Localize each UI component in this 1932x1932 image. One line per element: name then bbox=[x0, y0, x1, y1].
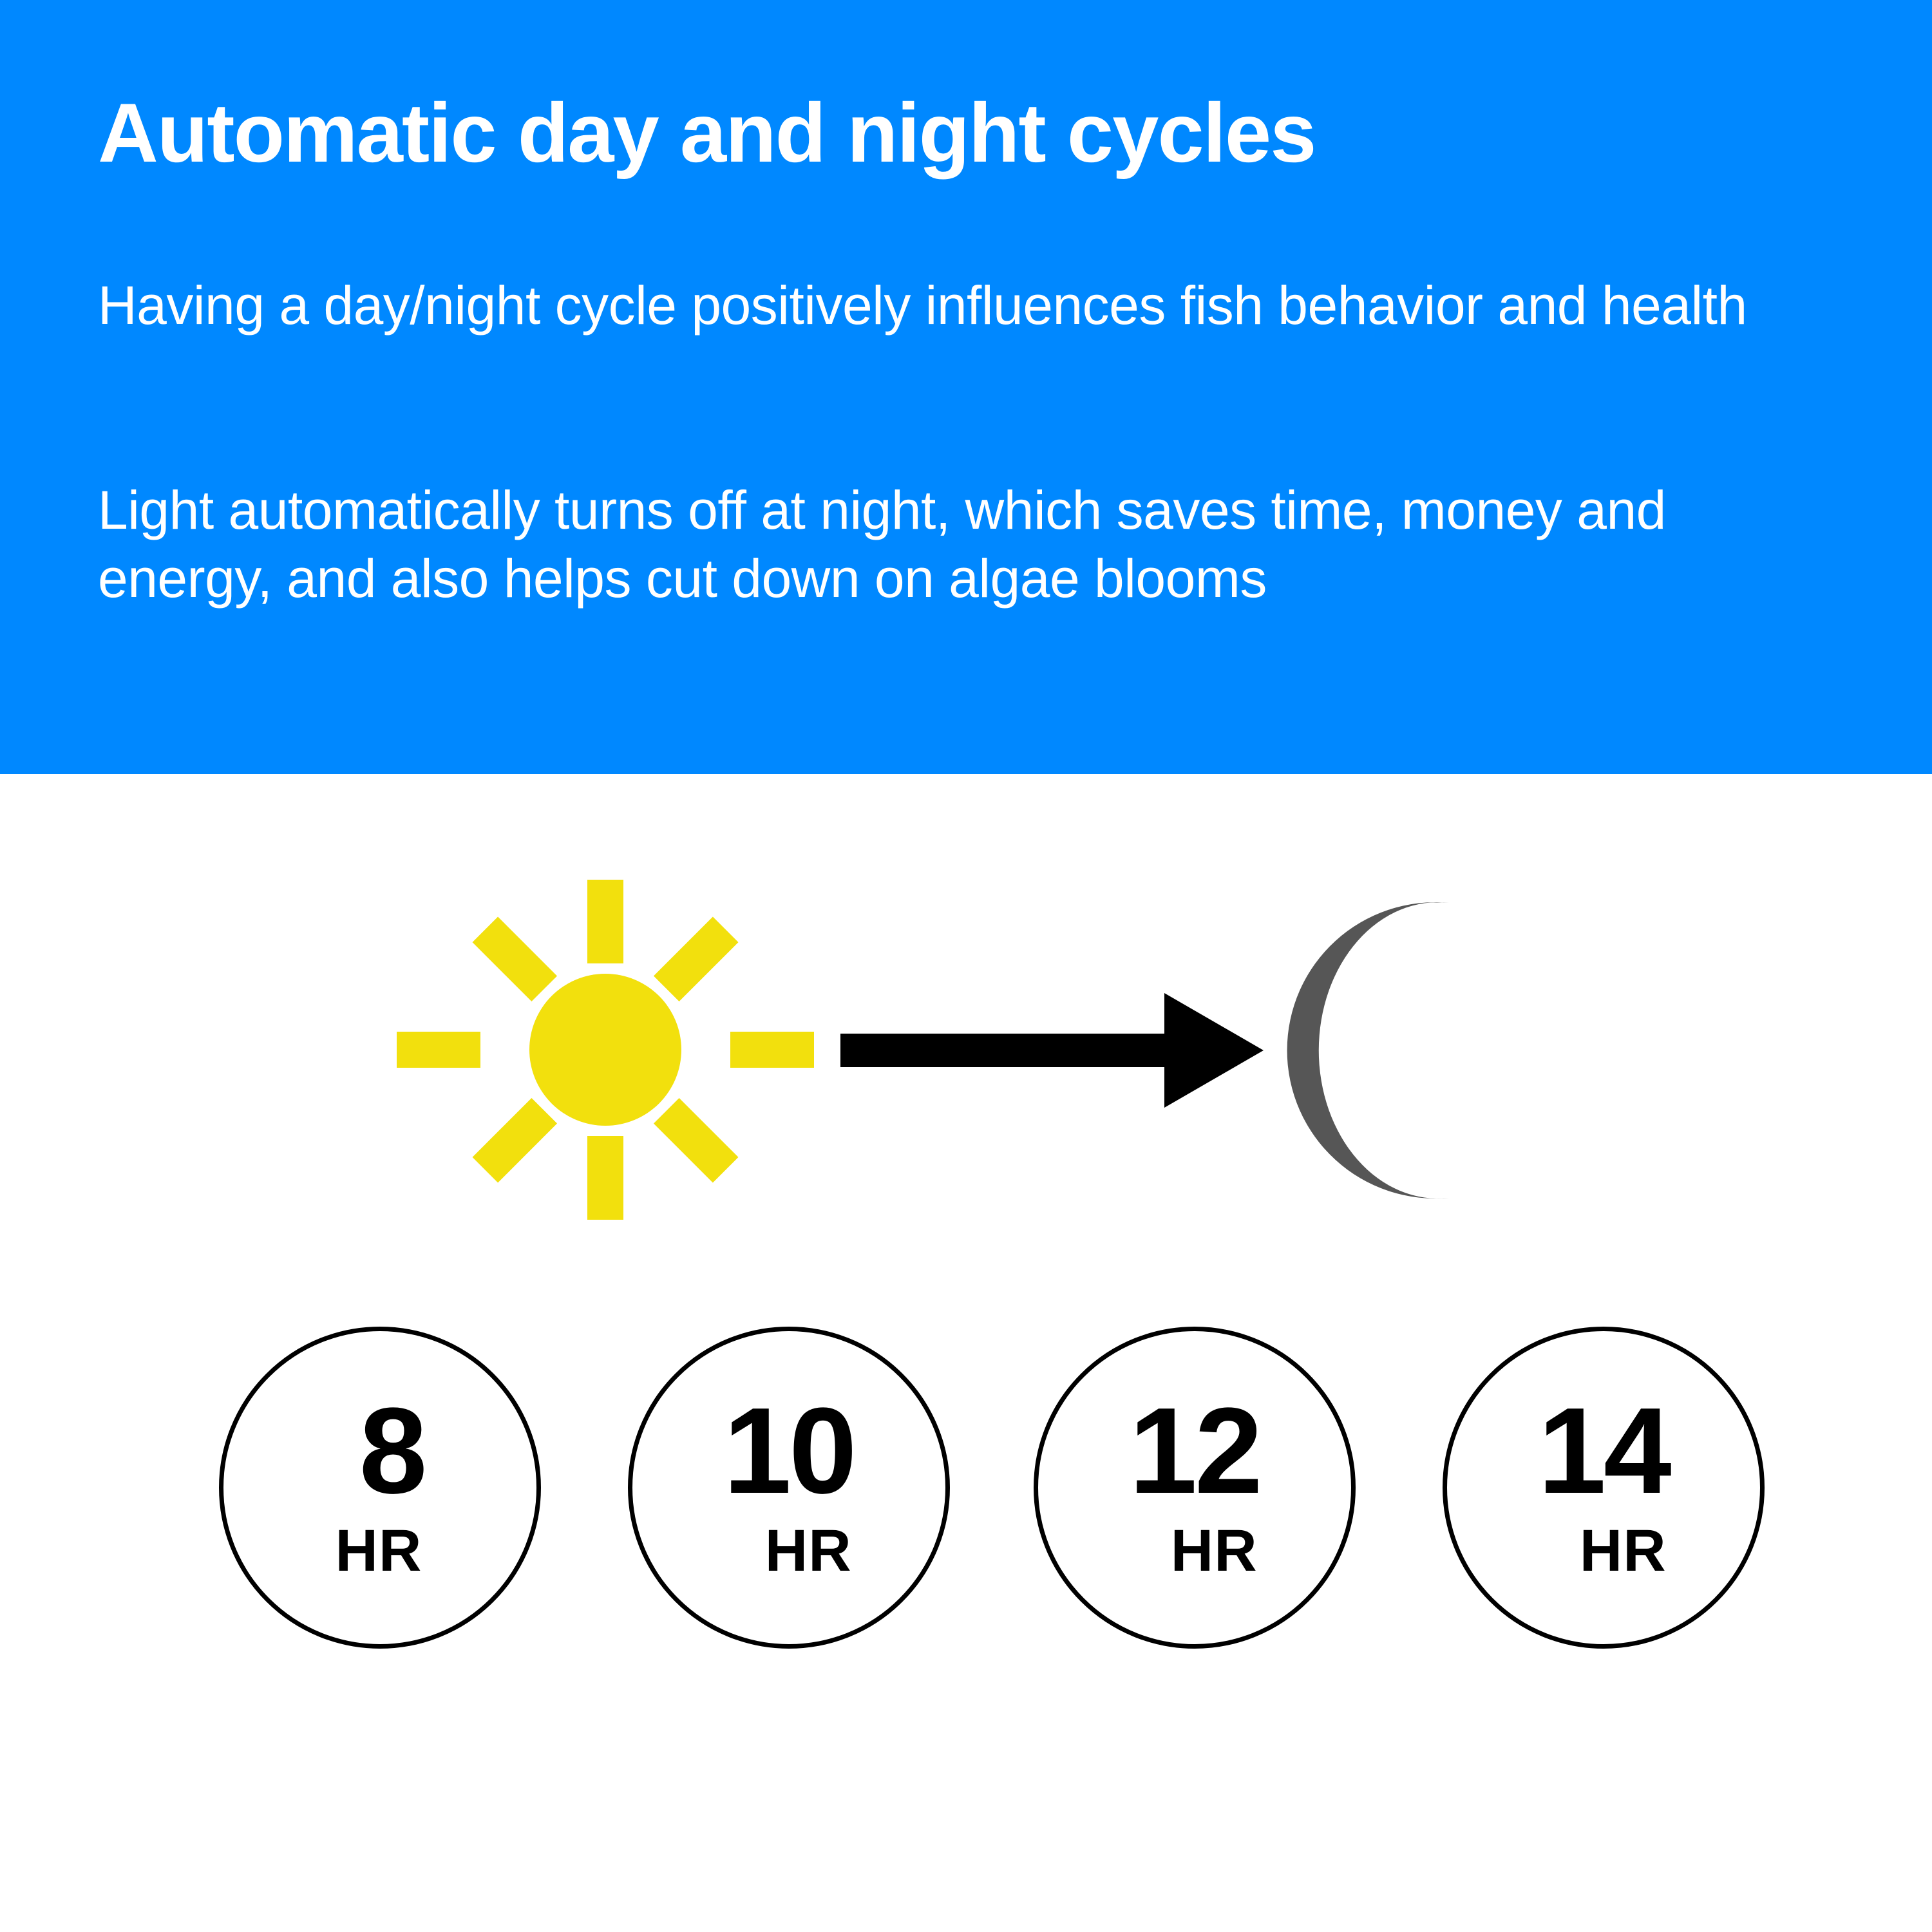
illustration-svg bbox=[0, 774, 1932, 1334]
duration-option-10hr[interactable]: 10 HR bbox=[628, 1327, 950, 1649]
header-paragraph-2: Light automatically turns off at night, … bbox=[98, 477, 1779, 613]
duration-option-14hr[interactable]: 14 HR bbox=[1443, 1327, 1765, 1649]
duration-option-12hr[interactable]: 12 HR bbox=[1034, 1327, 1356, 1649]
page-title: Automatic day and night cycles bbox=[98, 89, 1837, 178]
duration-option-stack: 10 HR bbox=[723, 1395, 854, 1581]
header-paragraph-1: Having a day/night cycle positively infl… bbox=[98, 272, 1779, 340]
duration-value: 8 bbox=[359, 1395, 425, 1508]
sun-icon bbox=[397, 880, 814, 1220]
duration-option-stack: 14 HR bbox=[1538, 1395, 1669, 1581]
arrow-right-icon bbox=[840, 993, 1264, 1108]
duration-unit: HR bbox=[765, 1521, 852, 1580]
duration-value: 12 bbox=[1129, 1395, 1260, 1508]
duration-unit: HR bbox=[336, 1521, 422, 1580]
duration-value: 10 bbox=[723, 1395, 854, 1508]
day-night-illustration bbox=[0, 774, 1932, 1334]
duration-option-stack: 12 HR bbox=[1129, 1395, 1260, 1581]
duration-unit: HR bbox=[1580, 1521, 1667, 1580]
duration-options-row: 8 HR 10 HR 12 HR 14 HR bbox=[0, 1301, 1932, 1700]
duration-option-8hr[interactable]: 8 HR bbox=[219, 1327, 541, 1649]
duration-unit: HR bbox=[1171, 1521, 1258, 1580]
crescent-moon-icon bbox=[1287, 902, 1449, 1198]
duration-value: 14 bbox=[1538, 1395, 1669, 1508]
header-banner: Automatic day and night cycles Having a … bbox=[0, 0, 1932, 774]
duration-option-stack: 8 HR bbox=[336, 1395, 425, 1581]
